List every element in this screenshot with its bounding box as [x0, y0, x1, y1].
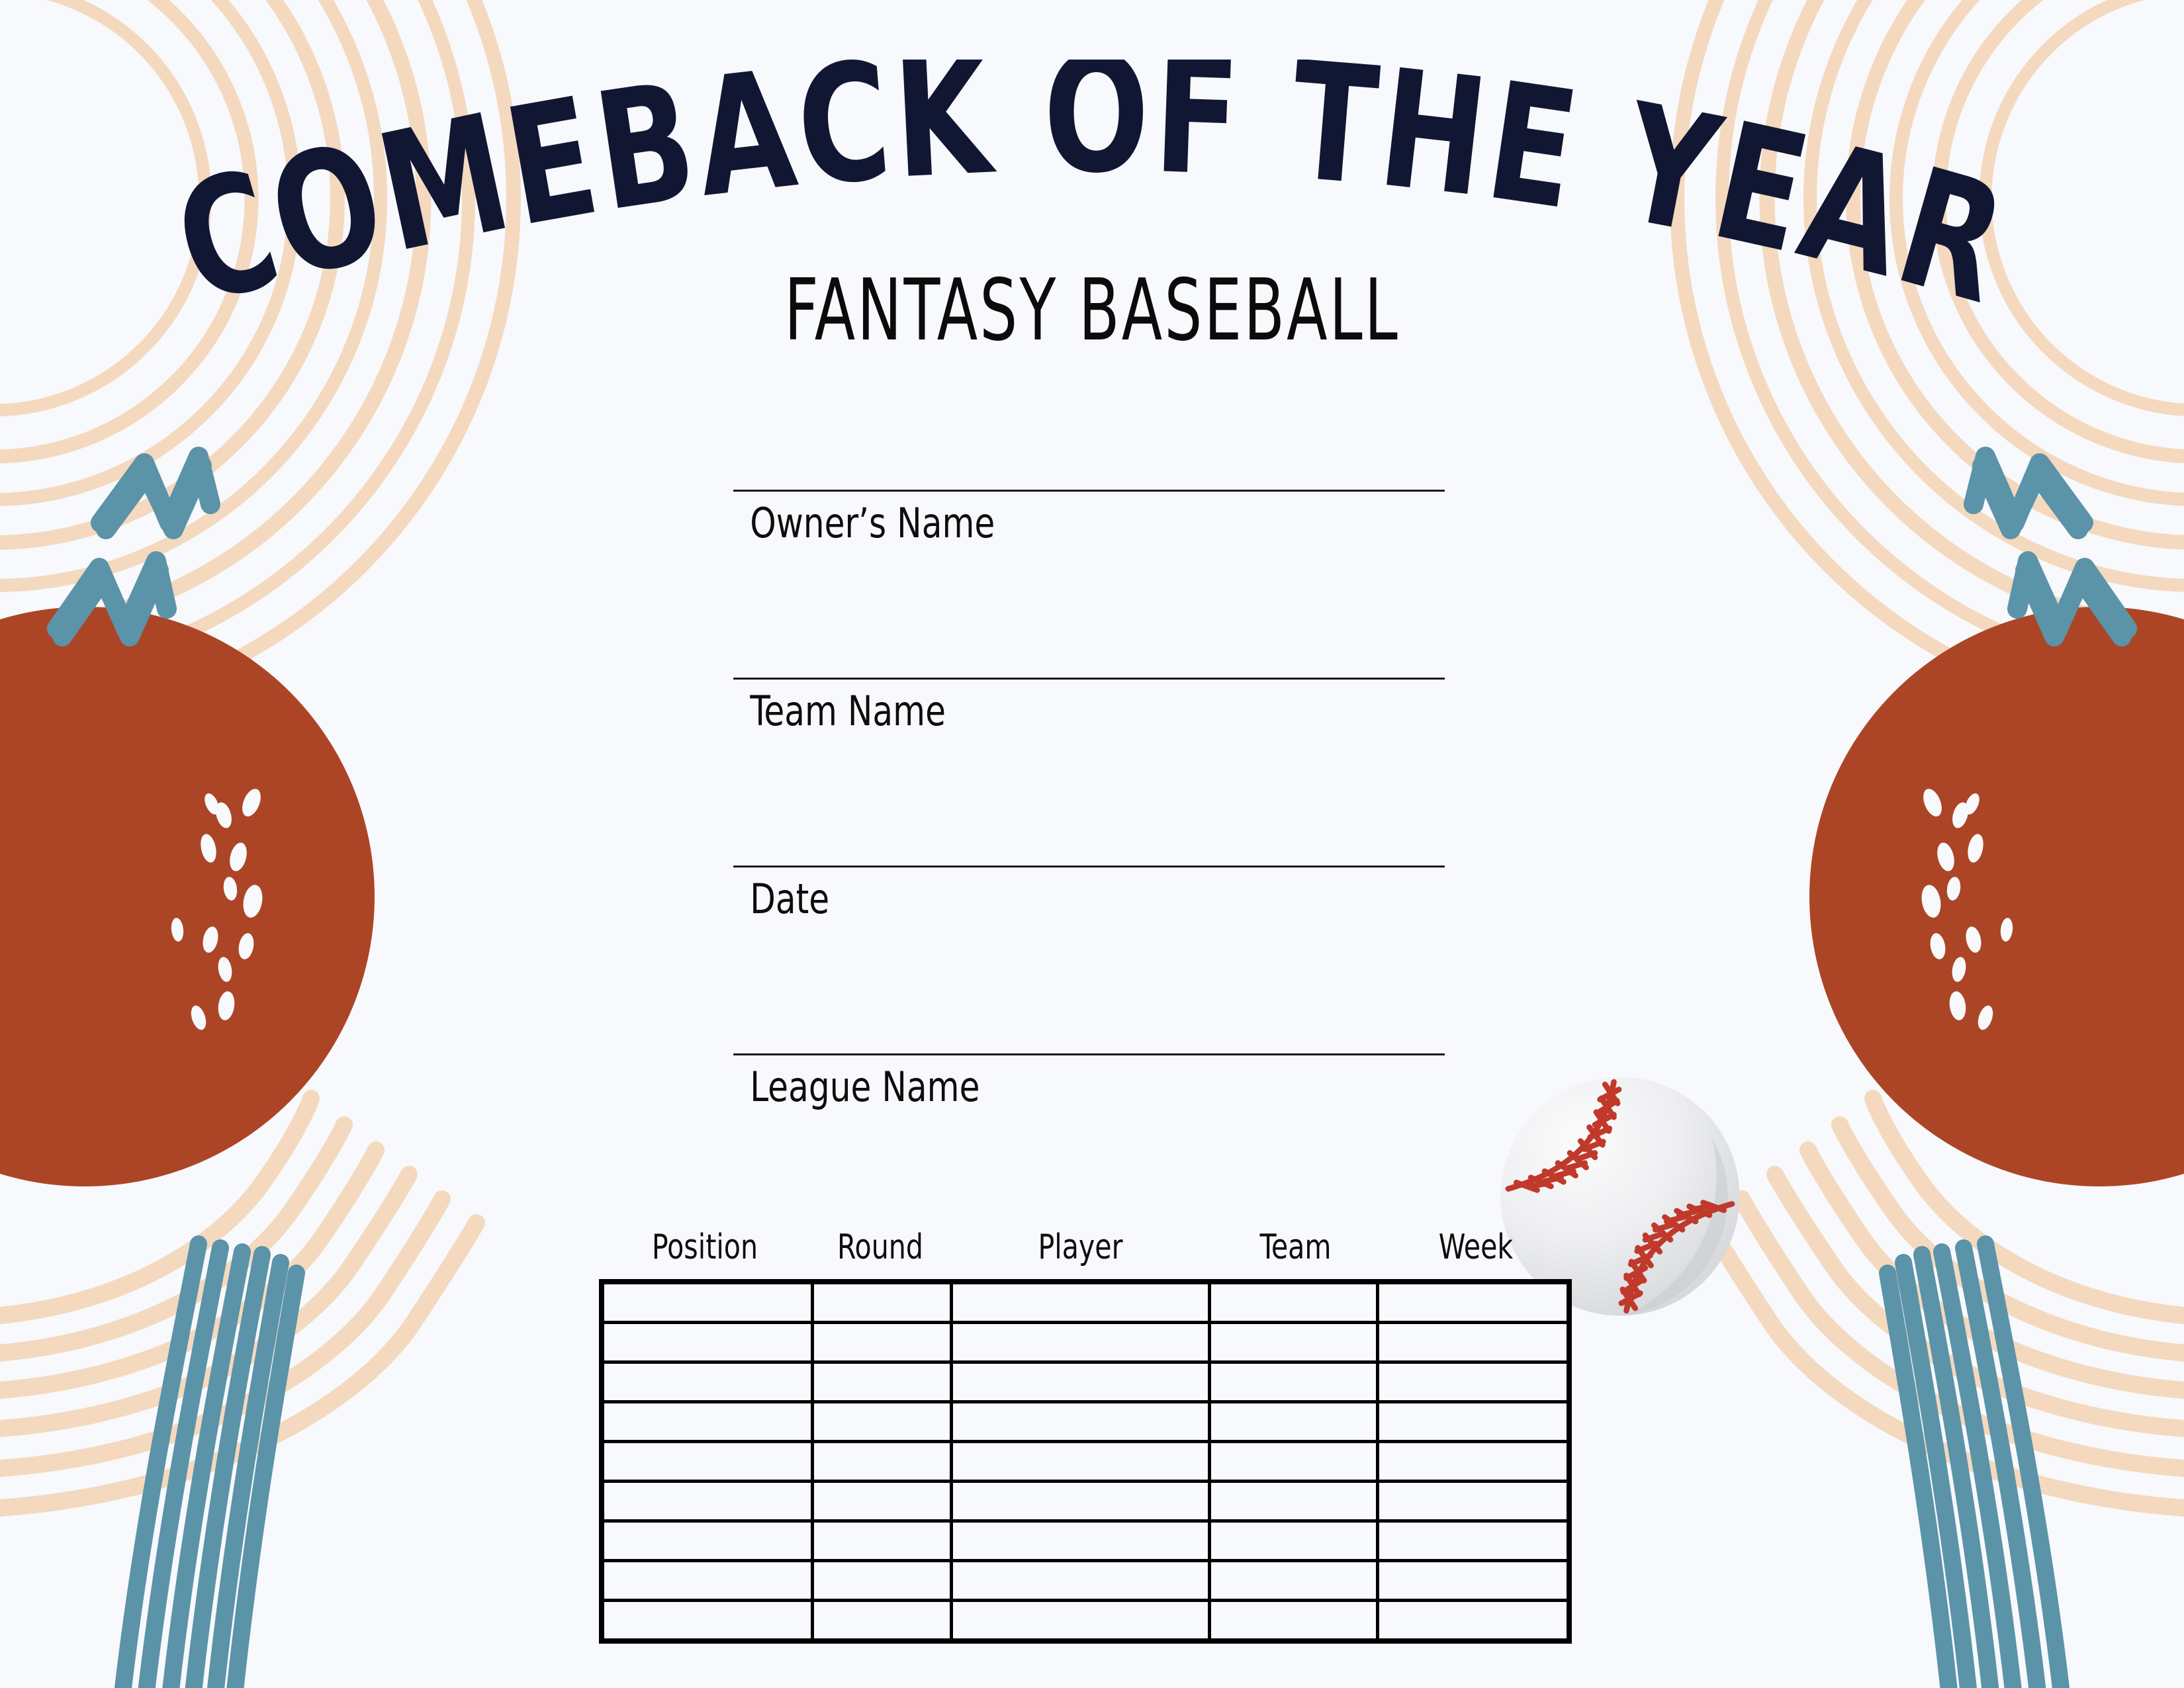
cell-round[interactable] [813, 1521, 952, 1561]
cell-team[interactable] [1210, 1282, 1378, 1323]
cell-position[interactable] [602, 1521, 813, 1561]
bottom-right-blue-strokes [1888, 1244, 2062, 1688]
cell-round[interactable] [813, 1442, 952, 1482]
table-row[interactable] [602, 1482, 1569, 1521]
page-subtitle: FANTASY BASEBALL [240, 261, 1944, 361]
cell-round[interactable] [813, 1402, 952, 1442]
cell-player[interactable] [952, 1601, 1210, 1642]
cell-round[interactable] [813, 1323, 952, 1362]
cell-player[interactable] [952, 1521, 1210, 1561]
cell-team[interactable] [1210, 1521, 1378, 1561]
bottom-left-tan-strokes [0, 1098, 477, 1510]
cell-player[interactable] [952, 1482, 1210, 1521]
cell-team[interactable] [1210, 1601, 1378, 1642]
cell-week[interactable] [1378, 1442, 1569, 1482]
table-row[interactable] [602, 1323, 1569, 1362]
field-spacer [733, 940, 1448, 1053]
cell-round[interactable] [813, 1482, 952, 1521]
table-grid [599, 1279, 1572, 1644]
cell-player[interactable] [952, 1323, 1210, 1362]
table-header-row: Position Round Player Team Week [599, 1227, 1572, 1279]
table-header-round: Round [819, 1227, 942, 1267]
table-row[interactable] [602, 1521, 1569, 1561]
table-header-player: Player [966, 1227, 1196, 1267]
certificate-canvas: COMEBACK OF THE YEAR FANTASY BASEBALL Ow… [0, 0, 2184, 1688]
cell-position[interactable] [602, 1442, 813, 1482]
cell-team[interactable] [1210, 1323, 1378, 1362]
field-team-name-label: Team Name [733, 680, 1377, 743]
form-fields: Owner’s Name Team Name Date League Name [733, 490, 1448, 1128]
right-circle-seed-marks [1919, 786, 2014, 1032]
field-owner-name[interactable]: Owner’s Name [733, 490, 1448, 555]
cell-position[interactable] [602, 1282, 813, 1323]
cell-team[interactable] [1210, 1442, 1378, 1482]
table-header-week: Week [1391, 1227, 1560, 1267]
cell-team[interactable] [1210, 1482, 1378, 1521]
field-date[interactable]: Date [733, 866, 1448, 931]
table-row[interactable] [602, 1282, 1569, 1323]
table-header-team: Team [1221, 1227, 1369, 1267]
cell-week[interactable] [1378, 1323, 1569, 1362]
table-row[interactable] [602, 1402, 1569, 1442]
cell-player[interactable] [952, 1561, 1210, 1601]
left-rust-circle [0, 607, 375, 1186]
cell-player[interactable] [952, 1442, 1210, 1482]
cell-position[interactable] [602, 1561, 813, 1601]
table-header-position: Position [612, 1227, 798, 1267]
cell-team[interactable] [1210, 1561, 1378, 1601]
table-row[interactable] [602, 1601, 1569, 1642]
field-league-name[interactable]: League Name [733, 1053, 1448, 1119]
field-owner-name-label: Owner’s Name [733, 492, 1377, 555]
table-row[interactable] [602, 1362, 1569, 1402]
cell-week[interactable] [1378, 1521, 1569, 1561]
cell-week[interactable] [1378, 1362, 1569, 1402]
cell-week[interactable] [1378, 1402, 1569, 1442]
cell-round[interactable] [813, 1282, 952, 1323]
field-spacer [733, 564, 1448, 678]
cell-week[interactable] [1378, 1561, 1569, 1601]
cell-team[interactable] [1210, 1362, 1378, 1402]
bottom-left-blue-strokes [122, 1244, 296, 1688]
cell-player[interactable] [952, 1282, 1210, 1323]
cell-team[interactable] [1210, 1402, 1378, 1442]
cell-player[interactable] [952, 1362, 1210, 1402]
right-rust-circle [1809, 607, 2184, 1186]
table-row[interactable] [602, 1442, 1569, 1482]
field-league-name-label: League Name [733, 1055, 1377, 1119]
cell-round[interactable] [813, 1561, 952, 1601]
cell-week[interactable] [1378, 1601, 1569, 1642]
cell-round[interactable] [813, 1362, 952, 1402]
cell-week[interactable] [1378, 1482, 1569, 1521]
cell-player[interactable] [952, 1402, 1210, 1442]
cell-position[interactable] [602, 1601, 813, 1642]
table-row[interactable] [602, 1561, 1569, 1601]
field-team-name[interactable]: Team Name [733, 678, 1448, 743]
right-blue-squiggle [1974, 457, 2127, 637]
left-blue-squiggle [57, 457, 210, 637]
cell-position[interactable] [602, 1482, 813, 1521]
field-date-label: Date [733, 867, 1377, 931]
draft-table: Position Round Player Team Week [599, 1227, 1572, 1644]
cell-round[interactable] [813, 1601, 952, 1642]
table-body [602, 1282, 1569, 1641]
cell-week[interactable] [1378, 1282, 1569, 1323]
field-spacer [733, 752, 1448, 866]
cell-position[interactable] [602, 1362, 813, 1402]
bottom-right-tan-strokes [1707, 1098, 2184, 1510]
cell-position[interactable] [602, 1402, 813, 1442]
cell-position[interactable] [602, 1323, 813, 1362]
left-circle-seed-marks [170, 786, 265, 1032]
